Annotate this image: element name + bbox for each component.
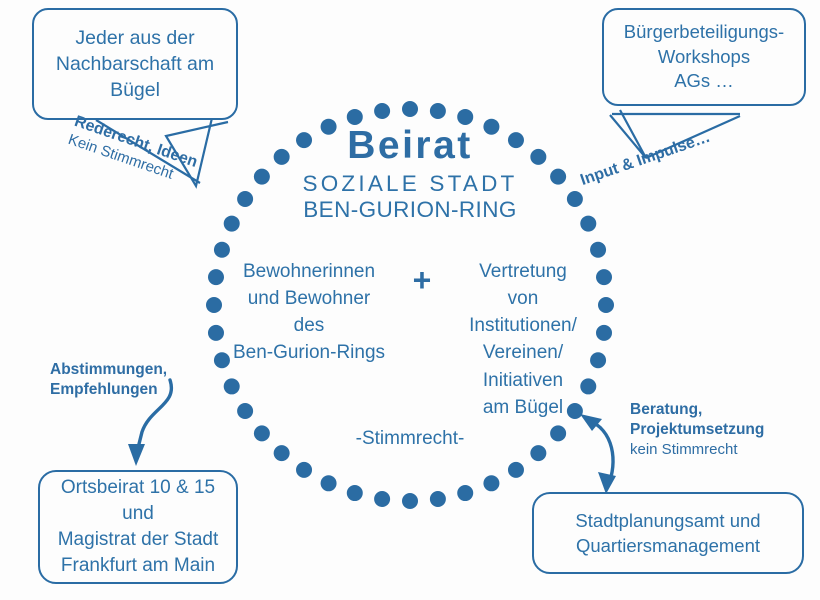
connector-label-beratung-strong: Beratung,Projektumsetzung <box>630 400 764 440</box>
circle-title-group: Beirat SOZIALE STADT BEN-GURION-RING <box>255 126 565 222</box>
subtitle-ben-gurion-ring: BEN-GURION-RING <box>255 198 565 223</box>
circle-dot <box>224 216 240 232</box>
membership-column-residents: Bewohnerinnenund BewohnerdesBen-Gurion-R… <box>221 258 397 367</box>
arrow-head-down-right <box>598 472 616 494</box>
box-ortsbeirat-magistrat[interactable]: Ortsbeirat 10 & 15undMagistrat der Stadt… <box>38 470 238 584</box>
circle-dot <box>590 242 606 258</box>
circle-dot <box>457 485 473 501</box>
circle-dot <box>430 103 446 119</box>
connector-label-beratung: Beratung,Projektumsetzung kein Stimmrech… <box>630 400 764 460</box>
circle-dot <box>237 191 253 207</box>
circle-dot <box>457 109 473 125</box>
circle-dot <box>374 491 390 507</box>
circle-dot <box>321 475 337 491</box>
connector-label-abstimmungen-strong: Abstimmungen,Empfehlungen <box>50 360 167 400</box>
speech-bubble-neighborhood-text: Jeder aus derNachbarschaft amBügel <box>56 25 214 104</box>
speech-bubble-neighborhood[interactable]: Jeder aus derNachbarschaft amBügel <box>32 8 238 120</box>
circle-dot <box>567 191 583 207</box>
circle-dot <box>254 425 270 441</box>
connector-label-abstimmungen: Abstimmungen,Empfehlungen <box>50 360 167 400</box>
circle-dot <box>550 425 566 441</box>
arrow-head-down-left <box>128 444 145 466</box>
circle-dot <box>402 101 418 117</box>
box-ortsbeirat-text: Ortsbeirat 10 & 15undMagistrat der Stadt… <box>58 475 219 578</box>
circle-dot <box>274 445 290 461</box>
circle-dot <box>296 462 312 478</box>
box-stadtplanungsamt[interactable]: Stadtplanungsamt undQuartiersmanagement <box>532 492 804 574</box>
circle-dot <box>402 493 418 509</box>
membership-column-institutions: VertretungvonInstitutionen/Vereinen/Init… <box>447 258 599 421</box>
circle-dot <box>580 216 596 232</box>
circle-dot <box>214 242 230 258</box>
speech-bubble-participation-text: Bürgerbeteiligungs-WorkshopsAGs … <box>624 20 784 95</box>
diagram-canvas: Jeder aus derNachbarschaft amBügel Bürge… <box>0 0 820 600</box>
circle-dot <box>508 462 524 478</box>
connector-label-beratung-light: kein Stimmrecht <box>630 440 764 460</box>
subtitle-soziale-stadt: SOZIALE STADT <box>255 172 565 197</box>
circle-dot <box>430 491 446 507</box>
plus-icon: + <box>397 258 447 298</box>
circle-dot <box>374 103 390 119</box>
circle-dot <box>483 475 499 491</box>
box-stadtplanungsamt-text: Stadtplanungsamt undQuartiersmanagement <box>575 508 760 558</box>
voting-rights-label: -Stimmrecht- <box>310 428 510 450</box>
circle-dot <box>530 445 546 461</box>
page-title: Beirat <box>255 126 565 167</box>
circle-membership-columns: Bewohnerinnenund BewohnerdesBen-Gurion-R… <box>206 258 614 421</box>
circle-dot <box>347 485 363 501</box>
circle-dot <box>347 109 363 125</box>
speech-bubble-participation[interactable]: Bürgerbeteiligungs-WorkshopsAGs … <box>602 8 806 106</box>
